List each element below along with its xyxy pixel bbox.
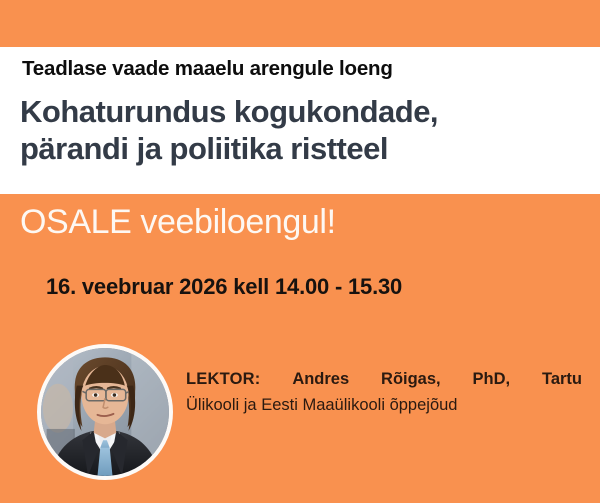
avatar-photo bbox=[41, 348, 169, 476]
lecturer-line-1: LEKTOR: Andres Rõigas, PhD, Tartu bbox=[186, 367, 582, 393]
call-to-action-text: OSALE veebiloengul! bbox=[20, 204, 580, 241]
page-title-line-2: pärandi ja poliitika ristteel bbox=[20, 131, 590, 168]
lecturer-label: LEKTOR: bbox=[186, 370, 260, 388]
lecturer-degree: PhD, bbox=[473, 370, 511, 388]
page-title-line-1: Kohaturundus kogukondade, bbox=[20, 94, 590, 131]
lecturer-name: Andres Rõigas, bbox=[292, 370, 440, 388]
lecturer-info: LEKTOR: Andres Rõigas, PhD, Tartu Ülikoo… bbox=[186, 367, 582, 418]
page-title: Kohaturundus kogukondade, pärandi ja pol… bbox=[20, 94, 590, 167]
avatar bbox=[37, 344, 173, 480]
lecturer-line-2: Ülikooli ja Eesti Maaülikooli õppejõud bbox=[186, 393, 582, 419]
poster-canvas: Teadlase vaade maaelu arengule loeng Koh… bbox=[0, 0, 600, 503]
top-orange-band bbox=[0, 0, 600, 47]
lecturer-affiliation-part: Tartu bbox=[542, 370, 582, 388]
event-datetime: 16. veebruar 2026 kell 14.00 - 15.30 bbox=[46, 274, 586, 300]
eyebrow-text: Teadlase vaade maaelu arengule loeng bbox=[22, 57, 582, 82]
